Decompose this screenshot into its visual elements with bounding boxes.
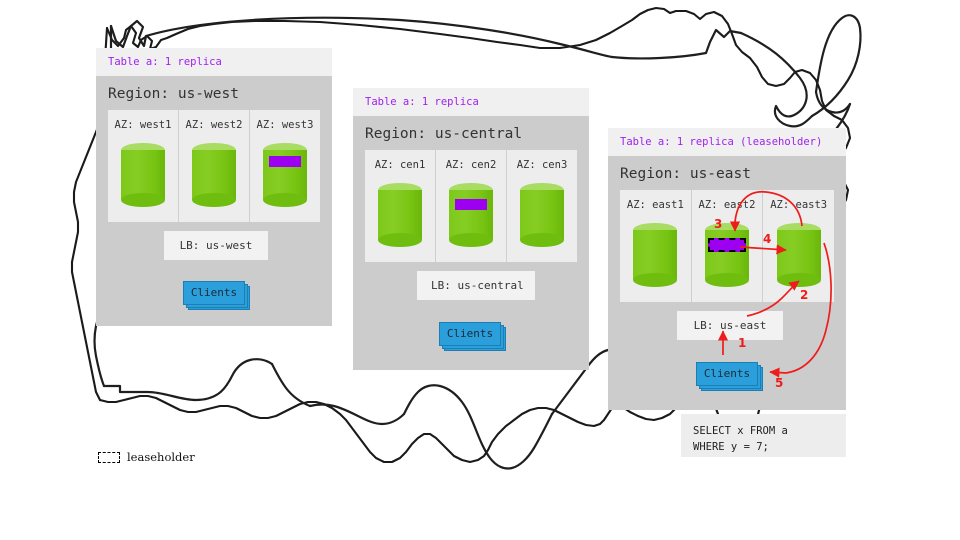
step-number-1: 1 — [738, 336, 746, 350]
panel-body-us-east: Region: us-east AZ: east1 AZ: east2 — [608, 156, 846, 302]
az-label-cen3: AZ: cen3 — [507, 159, 577, 171]
clients-us-central[interactable]: Clients — [439, 322, 503, 348]
sql-query-box: SELECT x FROM a WHERE y = 7; — [681, 414, 846, 457]
step-number-2: 2 — [800, 288, 808, 302]
node-cen2[interactable] — [436, 183, 506, 247]
region-panel-us-east: Table a: 1 replica (leaseholder) Region:… — [608, 128, 846, 410]
panel-header-us-east: Table a: 1 replica (leaseholder) — [608, 128, 846, 156]
az-cell-west3[interactable]: AZ: west3 — [249, 110, 320, 222]
node-west2[interactable] — [179, 143, 249, 207]
az-cell-east2[interactable]: AZ: east2 — [691, 190, 763, 302]
clients-label-us-east: Clients — [696, 362, 758, 386]
clients-label-us-central: Clients — [439, 322, 501, 346]
node-east1[interactable] — [620, 223, 691, 287]
panel-body-us-central: Region: us-central AZ: cen1 AZ: cen2 — [353, 116, 589, 262]
replica-cen2[interactable] — [455, 199, 487, 210]
az-label-cen1: AZ: cen1 — [365, 159, 435, 171]
az-row-us-west: AZ: west1 AZ: west2 — [108, 110, 320, 222]
clients-us-east[interactable]: Clients — [696, 362, 760, 388]
step-number-3: 3 — [714, 217, 722, 231]
node-east2[interactable] — [692, 223, 763, 287]
region-panel-us-west: Table a: 1 replica Region: us-west AZ: w… — [96, 48, 332, 326]
az-cell-west2[interactable]: AZ: west2 — [178, 110, 249, 222]
clients-label-us-west: Clients — [183, 281, 245, 305]
node-cen1[interactable] — [365, 183, 435, 247]
step-number-4: 4 — [763, 232, 771, 246]
replica-west3[interactable] — [269, 156, 301, 167]
panel-header-us-west: Table a: 1 replica — [96, 48, 332, 76]
region-panel-us-central: Table a: 1 replica Region: us-central AZ… — [353, 88, 589, 370]
az-label-east3: AZ: east3 — [763, 199, 834, 211]
replica-east2-leaseholder[interactable] — [708, 238, 746, 252]
clients-us-west[interactable]: Clients — [183, 281, 247, 307]
az-label-west2: AZ: west2 — [179, 119, 249, 131]
az-label-east1: AZ: east1 — [620, 199, 691, 211]
node-west3[interactable] — [250, 143, 320, 207]
az-label-cen2: AZ: cen2 — [436, 159, 506, 171]
az-cell-cen2[interactable]: AZ: cen2 — [435, 150, 506, 262]
leaseholder-dashed-swatch — [98, 452, 120, 463]
az-cell-cen1[interactable]: AZ: cen1 — [365, 150, 435, 262]
node-cen3[interactable] — [507, 183, 577, 247]
az-cell-east1[interactable]: AZ: east1 — [620, 190, 691, 302]
az-cell-east3[interactable]: AZ: east3 — [762, 190, 834, 302]
panel-header-us-central: Table a: 1 replica — [353, 88, 589, 116]
legend: leaseholder — [98, 450, 195, 464]
region-title-us-east: Region: us-east — [608, 156, 846, 190]
lb-us-central[interactable]: LB: us-central — [417, 271, 535, 300]
az-row-us-central: AZ: cen1 AZ: cen2 — [365, 150, 577, 262]
region-title-us-central: Region: us-central — [353, 116, 589, 150]
az-row-us-east: AZ: east1 AZ: east2 — [620, 190, 834, 302]
az-cell-west1[interactable]: AZ: west1 — [108, 110, 178, 222]
node-east3[interactable] — [763, 223, 834, 287]
diagram-canvas: Table a: 1 replica Region: us-west AZ: w… — [0, 0, 960, 540]
lb-us-east[interactable]: LB: us-east — [677, 311, 783, 340]
az-cell-cen3[interactable]: AZ: cen3 — [506, 150, 577, 262]
panel-body-us-west: Region: us-west AZ: west1 AZ: west2 — [96, 76, 332, 222]
region-title-us-west: Region: us-west — [96, 76, 332, 110]
step-number-5: 5 — [775, 376, 783, 390]
az-label-west1: AZ: west1 — [108, 119, 178, 131]
az-label-east2: AZ: east2 — [692, 199, 763, 211]
node-west1[interactable] — [108, 143, 178, 207]
lb-us-west[interactable]: LB: us-west — [164, 231, 268, 260]
az-label-west3: AZ: west3 — [250, 119, 320, 131]
legend-label-leaseholder: leaseholder — [127, 450, 195, 464]
